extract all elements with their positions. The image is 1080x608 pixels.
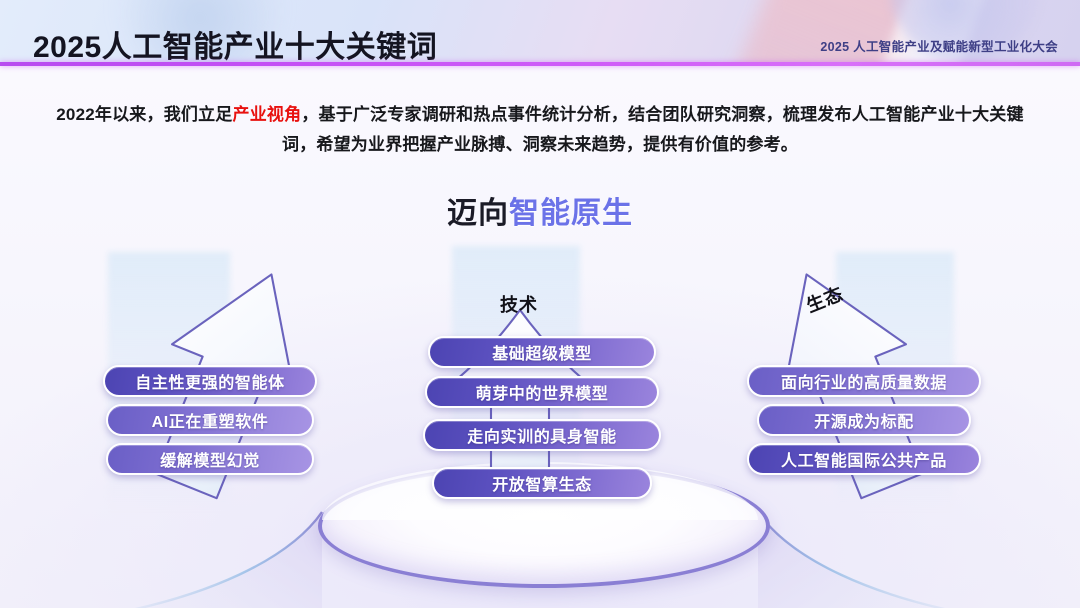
keyword-pill-center-4[interactable]: 开放智算生态 — [432, 467, 652, 499]
slide-header: 2025人工智能产业十大关键词 2025 人工智能产业及赋能新型工业化大会 — [0, 0, 1080, 66]
keyword-pill-center-1[interactable]: 基础超级模型 — [428, 336, 656, 368]
keyword-pill-left-2[interactable]: AI正在重塑软件 — [106, 404, 314, 436]
keyword-pill-left-1[interactable]: 自主性更强的智能体 — [103, 365, 317, 397]
conference-name: 2025 人工智能产业及赋能新型工业化大会 — [820, 36, 1058, 55]
keyword-pill-center-3[interactable]: 走向实训的具身智能 — [423, 419, 661, 451]
keyword-pill-center-2[interactable]: 萌芽中的世界模型 — [425, 376, 659, 408]
keyword-pill-right-3[interactable]: 人工智能国际公共产品 — [747, 443, 981, 475]
keyword-pill-right-1[interactable]: 面向行业的高质量数据 — [747, 365, 981, 397]
arrow-label-technology: 技术 — [500, 291, 538, 317]
page-title: 2025人工智能产业十大关键词 — [33, 22, 437, 66]
slide-canvas: 2025人工智能产业十大关键词 2025 人工智能产业及赋能新型工业化大会 20… — [0, 0, 1080, 608]
keyword-pill-right-2[interactable]: 开源成为标配 — [757, 404, 971, 436]
keyword-pill-left-3[interactable]: 缓解模型幻觉 — [106, 443, 314, 475]
